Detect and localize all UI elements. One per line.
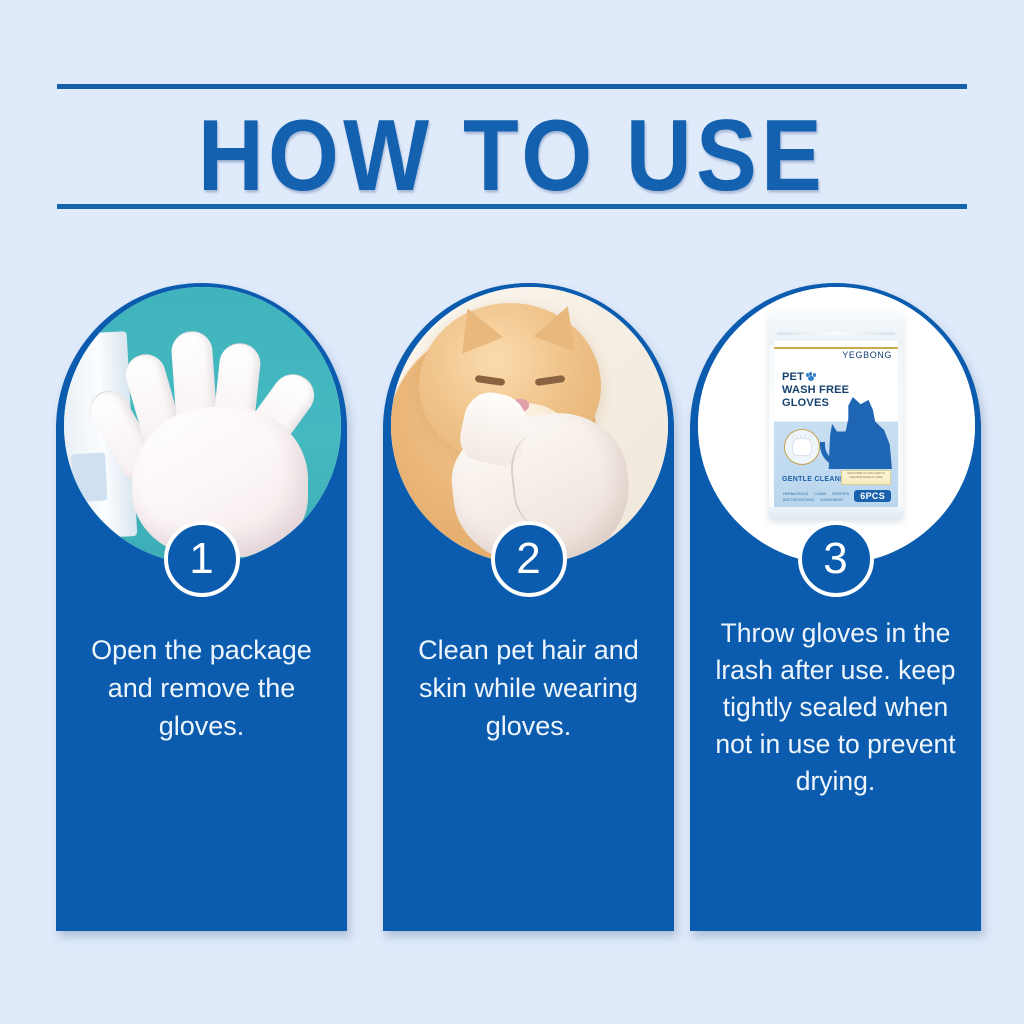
step-caption-3: Throw gloves in the lrash after use. kee… <box>704 615 967 800</box>
page-title: HOW TO USE <box>30 91 995 221</box>
package-title-line3: GLOVES <box>782 397 829 409</box>
step-number-badge-1: 1 <box>164 521 240 597</box>
step-card-2: 2 Clean pet hair and skin while wearing … <box>383 283 674 931</box>
cat-ear-left <box>447 300 503 354</box>
header: HOW TO USE <box>57 84 967 209</box>
step-number-badge-2: 2 <box>491 521 567 597</box>
step-caption-2: Clean pet hair and skin while wearing gl… <box>397 631 660 745</box>
title-rule-top <box>57 84 967 89</box>
package-bottom-edge <box>769 507 903 519</box>
package-feature: SCENTED <box>832 492 849 497</box>
cat-eye-right <box>534 375 565 386</box>
package-feature: HERBACEOUS <box>783 492 808 497</box>
cat-ear-right <box>533 299 588 352</box>
package-front-face: YEGBONG PET WASH FREE GLOVES <box>774 341 898 509</box>
cat-eye-left <box>474 375 505 386</box>
glove-icon <box>784 429 820 465</box>
infographic-canvas: HOW TO USE 1 Open t <box>0 0 1024 1024</box>
package-feature: CONVENIENT <box>820 498 844 503</box>
product-package: YEGBONG PET WASH FREE GLOVES <box>769 313 903 519</box>
step-card-1: 1 Open the package and remove the gloves… <box>56 283 347 931</box>
steps-container: 1 Open the package and remove the gloves… <box>0 283 1024 943</box>
step-card-3: YEGBONG PET WASH FREE GLOVES <box>690 283 981 931</box>
step-caption-1: Open the package and remove the gloves. <box>70 631 333 745</box>
package-feature: BACTERIOSTASIS <box>783 498 814 503</box>
package-seal-label: WASH FREE GLOVES GENTLE CLEANING MADE IN… <box>841 470 891 485</box>
package-brand: YEGBONG <box>842 350 892 360</box>
step-number-badge-3: 3 <box>798 521 874 597</box>
package-feature: CLEAN <box>814 492 826 497</box>
package-title-line1: PET <box>782 371 804 383</box>
paw-icon <box>806 372 816 381</box>
package-count-badge: 6PCS <box>854 490 891 502</box>
pet-silhouettes <box>826 393 894 469</box>
cat-tail-shape <box>820 442 867 467</box>
